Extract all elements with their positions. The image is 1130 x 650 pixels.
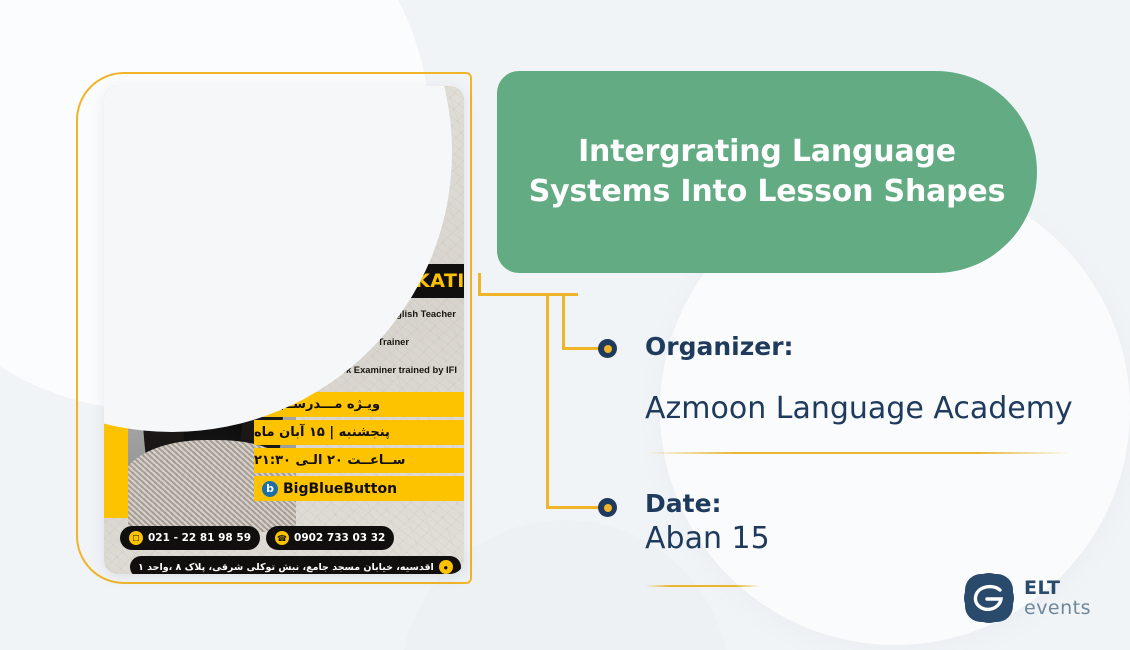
connector-line-date	[546, 506, 604, 509]
event-poster[interactable]: LANGUAGE SYSTEMS into lesson shapes MARY…	[104, 86, 464, 574]
platform-name: BigBlueButton	[283, 481, 397, 497]
organizer-label: Organizer:	[645, 332, 794, 361]
bigbluebutton-icon: b	[262, 481, 278, 497]
section-divider-2	[645, 585, 760, 587]
address-pill: ● اقدسیه، خیابان مسجد جامع، نبش توکلی شر…	[130, 556, 461, 574]
connector-line-vertical-main	[478, 273, 481, 295]
poster-contact-row: ☐ 021 - 22 81 98 59 ☎ 0902 733 03 32	[120, 526, 448, 550]
section-divider-1	[645, 452, 1070, 454]
poster-info-strips: ویـژه مـــدرســیـــن پنجشنبه | ۱۵ آبان م…	[254, 392, 464, 504]
date-value: Aban 15	[645, 521, 770, 556]
organizer-value: Azmoon Language Academy	[645, 391, 1073, 426]
elt-logo-mark-icon	[963, 572, 1015, 624]
logo-line-1: ELT	[1024, 579, 1091, 598]
date-label: Date:	[645, 489, 722, 518]
landline-pill[interactable]: ☐ 021 - 22 81 98 59	[120, 526, 260, 550]
bullet-dot-date	[598, 498, 617, 517]
mobile-number: 0902 733 03 32	[294, 532, 385, 544]
title-line-1: Intergrating Language	[578, 134, 956, 169]
address-text: اقدسیه، خیابان مسجد جامع، نبش توکلی شرقی…	[138, 562, 434, 573]
phone-call-icon: ☎	[275, 531, 289, 545]
phone-landline-icon: ☐	[129, 531, 143, 545]
event-title-banner: Intergrating Language Systems Into Lesso…	[497, 71, 1037, 273]
logo-line-2: events	[1024, 599, 1091, 618]
title-line-2: Systems Into Lesson Shapes	[529, 174, 1005, 209]
landline-number: 021 - 22 81 98 59	[148, 532, 251, 544]
bullet-dot-organizer	[598, 339, 617, 358]
mobile-pill[interactable]: ☎ 0902 733 03 32	[266, 526, 394, 550]
strip-platform: b BigBlueButton	[254, 476, 464, 501]
elt-logo-text: ELT events	[1024, 579, 1091, 618]
strip-time-text: ســاعــت ۲۰ الـی ۲۱:۳۰	[254, 453, 405, 468]
strip-time: ســاعــت ۲۰ الـی ۲۱:۳۰	[254, 448, 464, 473]
page-title: Intergrating Language Systems Into Lesso…	[529, 132, 1005, 212]
strip-day: پنجشنبه | ۱۵ آبان ماه	[254, 420, 464, 445]
strip-day-text: پنجشنبه | ۱۵ آبان ماه	[254, 425, 390, 440]
connector-line-organizer-stem	[562, 293, 565, 349]
connector-line-trunk	[546, 293, 549, 508]
elt-events-logo[interactable]: ELT events	[963, 572, 1091, 624]
location-pin-icon: ●	[439, 560, 453, 574]
